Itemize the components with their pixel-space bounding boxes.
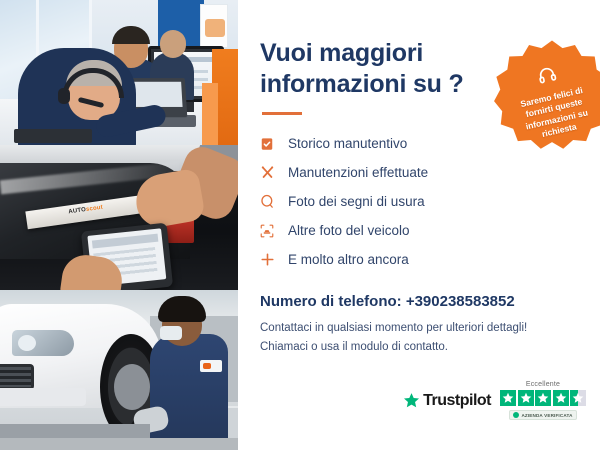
photo1-third-agent-head xyxy=(160,30,186,58)
star-filled xyxy=(535,390,551,406)
photo3-bumper xyxy=(0,388,86,406)
trustpilot-logo: Trustpilot xyxy=(403,392,491,410)
trustpilot-rating: Eccellente AZIENDA VERIFICATA xyxy=(500,381,586,420)
feature-label: E molto altro ancora xyxy=(288,252,409,267)
photo3-mechanic xyxy=(150,334,228,450)
photo-call-center-agents-with-headsets xyxy=(0,0,238,145)
trustpilot-rating-label: Eccellente xyxy=(526,381,560,388)
page-title: Vuoi maggiori informazioni su ? xyxy=(260,38,475,99)
badge-text: Saremo felici di fornirti queste informa… xyxy=(506,82,600,147)
star-filled xyxy=(500,390,516,406)
ad-creative: AUTOscout xyxy=(0,0,600,450)
contact-line-2: Chiamaci o usa il modulo di contatto. xyxy=(260,338,600,357)
search-circle-icon xyxy=(260,194,284,209)
feature-label: Manutenzioni effettuate xyxy=(288,165,428,180)
phone-number[interactable]: Numero di telefono: +390238583852 xyxy=(260,293,600,310)
contact-line-1: Contattaci in qualsiasi momento per ulte… xyxy=(260,319,600,338)
photo1-desk-tray xyxy=(14,129,92,143)
photo3-uniform-logo xyxy=(200,360,222,372)
feature-item-foto-segni-usura: Foto dei segni di usura xyxy=(260,187,600,216)
page-title-line-2: informazioni su ? xyxy=(260,70,464,98)
star-filled xyxy=(518,390,534,406)
feature-item-altre-foto-veicolo: Altre foto del veicolo xyxy=(260,216,600,245)
photo3-mechanic-mask xyxy=(160,326,182,340)
headset-icon xyxy=(535,64,559,92)
trustpilot-widget[interactable]: Trustpilot Eccellente AZIENDA VERIFICATA xyxy=(403,381,586,420)
star-half xyxy=(570,390,586,406)
contact-instructions: Contattaci in qualsiasi momento per ulte… xyxy=(260,319,600,357)
photo-mechanic-inspecting-white-car-on-lift xyxy=(0,290,238,450)
photo3-headlight xyxy=(12,330,74,356)
feature-label: Foto dei segni di usura xyxy=(288,194,425,209)
title-underline xyxy=(262,112,302,115)
callout-badge: Saremo felici di fornirti queste informa… xyxy=(491,38,600,160)
plus-icon xyxy=(260,252,284,267)
feature-label: Storico manutentivo xyxy=(288,136,407,151)
trustpilot-brand-name: Trustpilot xyxy=(423,392,491,410)
photo1-orange-panel-light xyxy=(202,83,218,145)
photo1-wall-sign xyxy=(200,4,228,48)
feature-label: Altre foto del veicolo xyxy=(288,223,410,238)
verified-company-badge: AZIENDA VERIFICATA xyxy=(509,410,576,420)
content-panel: Vuoi maggiori informazioni su ? Storico … xyxy=(238,0,600,450)
photo1-headset-earcup xyxy=(58,88,70,104)
clipboard-check-icon xyxy=(260,137,284,151)
verified-company-label: AZIENDA VERIFICATA xyxy=(521,413,572,418)
photo2-ruler-brand: AUTOscout xyxy=(68,205,103,216)
page-title-line-1: Vuoi maggiori xyxy=(260,39,423,67)
feature-item-molto-altro: E molto altro ancora xyxy=(260,245,600,274)
car-focus-frame-icon xyxy=(260,224,284,238)
feature-item-manutenzioni-effettuate: Manutenzioni effettuate xyxy=(260,158,600,187)
trustpilot-star-icon xyxy=(403,392,420,409)
photo-column: AUTOscout xyxy=(0,0,238,450)
verified-check-icon xyxy=(513,412,519,418)
trustpilot-stars xyxy=(500,390,586,406)
photo-vehicle-damage-inspection-with-ruler-and-tablet: AUTOscout xyxy=(0,145,238,290)
tools-cross-icon xyxy=(260,165,284,180)
photo3-wheel-rim xyxy=(114,364,150,410)
star-filled xyxy=(553,390,569,406)
photo3-grille xyxy=(0,364,34,390)
photo3-floor xyxy=(0,438,238,450)
